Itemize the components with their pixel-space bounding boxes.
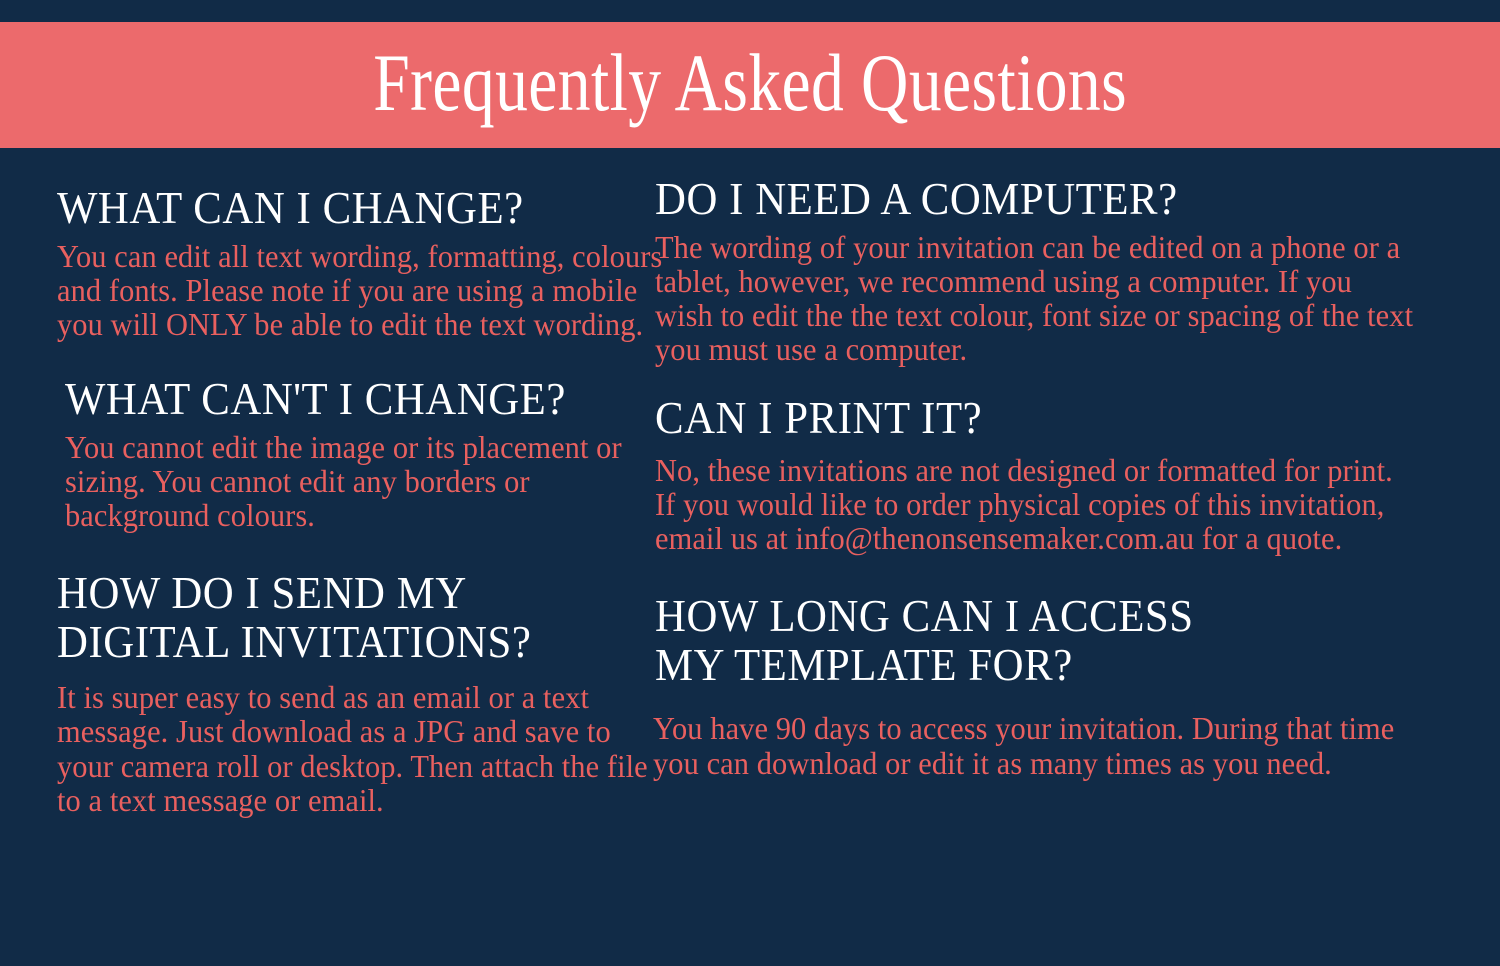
faq-column-right: DO I NEED A COMPUTER? The wording of you…	[655, 148, 1455, 798]
faq-answer-can-i-print-it: No, these invitations are not designed o…	[655, 453, 1415, 555]
faq-item-what-cant-i-change: WHAT CAN'T I CHANGE? You cannot edit the…	[65, 375, 700, 532]
faq-question-can-i-print-it: CAN I PRINT IT?	[655, 394, 1399, 443]
faq-question-what-cant-i-change: WHAT CAN'T I CHANGE?	[65, 375, 656, 424]
faq-item-what-can-i-change: WHAT CAN I CHANGE? You can edit all text…	[57, 184, 700, 341]
faq-item-can-i-print-it: CAN I PRINT IT? No, these invitations ar…	[655, 394, 1455, 555]
faq-item-do-i-need-a-computer: DO I NEED A COMPUTER? The wording of you…	[655, 175, 1455, 366]
faq-column-left: WHAT CAN I CHANGE? You can edit all text…	[0, 148, 700, 835]
faq-answer-what-cant-i-change: You cannot edit the image or its placeme…	[65, 430, 668, 532]
faq-question-what-can-i-change: WHAT CAN I CHANGE?	[57, 184, 655, 233]
header-banner: Frequently Asked Questions	[0, 22, 1500, 148]
faq-page: Frequently Asked Questions WHAT CAN I CH…	[0, 0, 1500, 966]
faq-columns: WHAT CAN I CHANGE? You can edit all text…	[0, 148, 1500, 966]
faq-question-how-do-i-send-my-digital-invitations: HOW DO I SEND MY DIGITAL INVITATIONS?	[57, 568, 655, 666]
page-title: Frequently Asked Questions	[373, 42, 1127, 124]
faq-answer-what-can-i-change: You can edit all text wording, formattin…	[57, 239, 668, 341]
faq-answer-how-do-i-send-my-digital-invitations: It is super easy to send as an email or …	[57, 680, 668, 816]
faq-item-how-do-i-send-my-digital-invitations: HOW DO I SEND MY DIGITAL INVITATIONS? It…	[57, 568, 700, 817]
faq-answer-do-i-need-a-computer: The wording of your invitation can be ed…	[655, 230, 1415, 366]
faq-question-how-long-can-i-access-my-template-for: HOW LONG CAN I ACCESS MY TEMPLATE FOR?	[655, 591, 1399, 689]
faq-answer-how-long-can-i-access-my-template-for: You have 90 days to access your invitati…	[653, 711, 1415, 779]
faq-item-how-long-can-i-access-my-template-for: HOW LONG CAN I ACCESS MY TEMPLATE FOR? Y…	[655, 591, 1455, 780]
faq-question-do-i-need-a-computer: DO I NEED A COMPUTER?	[655, 175, 1399, 224]
